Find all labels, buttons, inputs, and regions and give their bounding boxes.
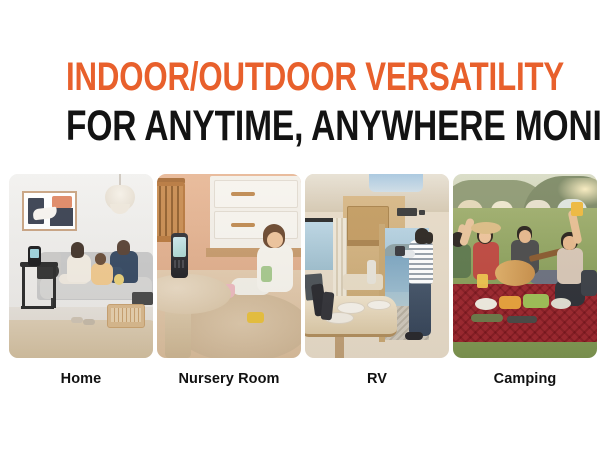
water-bottle bbox=[367, 260, 376, 284]
father-head bbox=[117, 240, 130, 255]
page-title: INDOOR/OUTDOOR VERSATILITY FOR ANYTIME, … bbox=[0, 57, 600, 148]
gallery-panel-nursery-room[interactable] bbox=[157, 174, 301, 358]
dresser-drawer-top bbox=[214, 180, 298, 208]
scene-gallery bbox=[9, 174, 589, 358]
person-4-drink bbox=[571, 202, 583, 216]
baby-toy-yellow bbox=[247, 312, 264, 323]
woman-striped-top bbox=[409, 240, 433, 284]
baby-toy-green bbox=[261, 266, 272, 282]
gallery-panel-camping[interactable] bbox=[453, 174, 597, 358]
person-2-drink bbox=[477, 274, 488, 288]
rv-control-switch bbox=[419, 210, 425, 215]
woman-hair-bun bbox=[425, 232, 433, 244]
person-4-body bbox=[557, 248, 583, 284]
side-table-leg-right bbox=[53, 266, 56, 308]
gallery-panel-home[interactable] bbox=[9, 174, 153, 358]
plate-back bbox=[367, 300, 391, 310]
side-table-foot bbox=[21, 306, 54, 309]
rv-control-panel bbox=[397, 208, 417, 216]
acoustic-guitar bbox=[495, 260, 535, 286]
slipper-right bbox=[83, 319, 95, 325]
rv-scene-image bbox=[305, 174, 449, 358]
woman-legs bbox=[409, 280, 431, 336]
rv-skylight bbox=[369, 174, 423, 192]
crib-slats bbox=[157, 186, 183, 236]
caption-row: Home Nursery Room RV Camping bbox=[9, 368, 589, 390]
camping-scene-image bbox=[453, 174, 597, 358]
rv-bench-seat bbox=[343, 274, 383, 290]
caption-rv: RV bbox=[305, 368, 449, 390]
headline-line-1: INDOOR/OUTDOOR VERSATILITY bbox=[66, 57, 534, 97]
picnic-food-6 bbox=[507, 316, 537, 323]
slipper-left bbox=[71, 317, 83, 323]
dresser-drawer-bottom bbox=[214, 211, 298, 239]
mother-body bbox=[67, 254, 91, 282]
coffee-mug bbox=[395, 246, 405, 256]
mother-head bbox=[71, 242, 84, 258]
headline-line-2: FOR ANYTIME, ANYWHERE MONITORING bbox=[66, 105, 534, 148]
picnic-food-1 bbox=[475, 298, 497, 310]
dresser-handle-top bbox=[231, 192, 255, 196]
child-body bbox=[91, 263, 113, 285]
home-scene-image bbox=[9, 174, 153, 358]
gallery-panel-rv[interactable] bbox=[305, 174, 449, 358]
person-2-sun-hat bbox=[471, 222, 501, 234]
picnic-food-2 bbox=[499, 296, 521, 309]
picnic-food-4 bbox=[551, 298, 571, 309]
baby-face bbox=[267, 232, 283, 248]
dresser-handle-bottom bbox=[231, 223, 255, 227]
baby-monitor-screen bbox=[30, 249, 39, 258]
woman-shoe bbox=[405, 332, 423, 340]
nursery-scene-image bbox=[157, 174, 301, 358]
person-1-body bbox=[453, 244, 471, 278]
picnic-food-3 bbox=[523, 294, 549, 308]
guitarist-face bbox=[519, 230, 531, 243]
baby-monitor-buttons bbox=[174, 260, 185, 268]
child-head bbox=[95, 253, 106, 265]
baby-monitor-screen bbox=[173, 237, 186, 257]
caption-nursery-room: Nursery Room bbox=[157, 368, 301, 390]
cooler-bag bbox=[581, 270, 597, 296]
woven-basket-weave bbox=[111, 308, 141, 322]
child-toy bbox=[114, 274, 124, 285]
picnic-food-5 bbox=[471, 314, 503, 322]
caption-camping: Camping bbox=[453, 368, 597, 390]
caption-home: Home bbox=[9, 368, 153, 390]
side-table-leg-left bbox=[22, 266, 25, 308]
